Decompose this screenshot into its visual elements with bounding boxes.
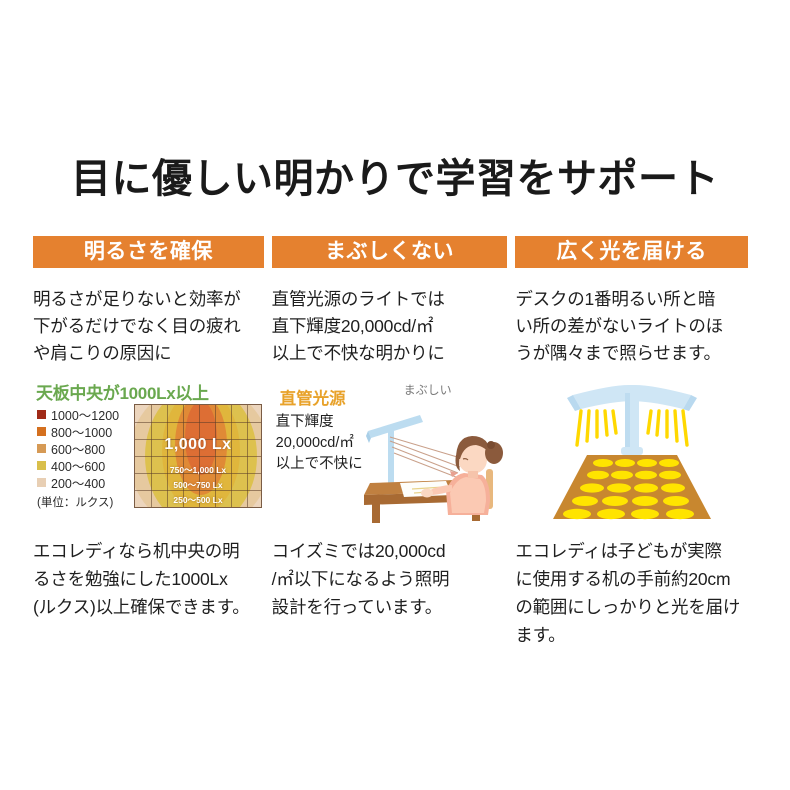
column-intro-glare: 直管光源のライトでは 直下輝度20,000cd/㎡ 以上で不快な明かりに: [272, 286, 508, 367]
legend-item: 400〜600: [37, 457, 133, 474]
outro-line: るさを勉強にした1000Lx: [33, 565, 264, 593]
wide-light-figure: [515, 379, 748, 529]
column-header-brightness: 明るさを確保: [33, 236, 264, 268]
legend-label: 200〜400: [51, 473, 105, 492]
outro-line: コイズミでは20,000cd: [272, 537, 508, 565]
intro-line: デスクの1番明るい所と暗: [515, 286, 748, 313]
feature-column-glare: まぶしくない 直管光源のライトでは 直下輝度20,000cd/㎡ 以上で不快な明…: [272, 236, 508, 649]
glare-side-note: 直下輝度 20,000cd/㎡ 以上で不快に: [276, 412, 363, 475]
legend-swatch-400-600: [37, 461, 46, 470]
intro-line: 直管光源のライトでは: [272, 286, 508, 313]
glare-callout-label: まぶしい: [404, 381, 452, 398]
intro-line: うが隅々まで照らせます。: [515, 340, 748, 367]
outro-line: (ルクス)以上確保できます。: [33, 593, 264, 621]
heatmap-gridlines: [135, 405, 261, 507]
heatmap-center-label: 1,000 Lx: [135, 436, 261, 454]
glare-figure-title: 直管光源: [280, 385, 346, 409]
legend-item: 800〜1000: [37, 423, 133, 440]
column-intro-wide-light: デスクの1番明るい所と暗 い所の差がないライトのほ うが隅々まで照らせます。: [515, 286, 748, 367]
intro-line: 明るさが足りないと効率が: [33, 286, 264, 313]
heatmap-band2-label: 500〜750 Lx: [135, 479, 261, 491]
intro-line: い所の差がないライトのほ: [515, 313, 748, 340]
side-line: 直下輝度: [276, 412, 363, 433]
glare-illustration: [360, 397, 508, 525]
intro-line: 以上で不快な明かりに: [272, 340, 508, 367]
outro-line: 設計を行っています。: [272, 593, 508, 621]
outro-line: エコレディは子どもが実際: [515, 537, 748, 565]
intro-line: 下がるだけでなく目の疲れ: [33, 313, 264, 340]
outro-line: に使用する机の手前約20cm: [515, 565, 748, 593]
outro-line: ます。: [515, 621, 748, 649]
intro-line: 直下輝度20,000cd/㎡: [272, 313, 508, 340]
feature-columns: 明るさを確保 明るさが足りないと効率が 下がるだけでなく目の疲れ や肩こりの原因…: [33, 236, 748, 649]
side-line: 以上で不快に: [276, 454, 363, 475]
infographic-page: 目に優しい明かりで学習をサポート 明るさを確保 明るさが足りないと効率が 下がる…: [0, 0, 790, 790]
heatmap-figure: 天板中央が1000Lx以上 1000〜1200 800〜1000 600〜800: [33, 379, 264, 529]
heatmap-band1-label: 750〜1,000 Lx: [135, 464, 261, 476]
column-intro-brightness: 明るさが足りないと効率が 下がるだけでなく目の疲れ や肩こりの原因に: [33, 286, 264, 367]
page-title: 目に優しい明かりで学習をサポート: [0, 146, 790, 204]
legend-swatch-1000-1200: [37, 410, 46, 419]
wide-light-illustration: [515, 379, 748, 527]
column-header-wide-light: 広く光を届ける: [515, 236, 748, 268]
legend-item: 200〜400: [37, 474, 133, 491]
legend-item: 1000〜1200: [37, 406, 133, 423]
outro-line: の範囲にしっかりと光を届け: [515, 593, 748, 621]
legend-item: 600〜800: [37, 440, 133, 457]
legend-unit-note: (単位：ルクス): [37, 494, 133, 510]
outro-line: エコレディなら机中央の明: [33, 537, 264, 565]
heatmap-title: 天板中央が1000Lx以上: [36, 379, 209, 404]
feature-column-brightness: 明るさを確保 明るさが足りないと効率が 下がるだけでなく目の疲れ や肩こりの原因…: [33, 236, 264, 649]
intro-line: や肩こりの原因に: [33, 340, 264, 367]
column-outro-wide-light: エコレディは子どもが実際 に使用する机の手前約20cm の範囲にしっかりと光を届…: [515, 537, 748, 649]
legend-swatch-200-400: [37, 478, 46, 487]
side-line: 20,000cd/㎡: [276, 433, 363, 454]
legend-swatch-600-800: [37, 444, 46, 453]
legend-swatch-800-1000: [37, 427, 46, 436]
feature-column-wide-light: 広く光を届ける デスクの1番明るい所と暗 い所の差がないライトのほ うが隅々まで…: [515, 236, 748, 649]
column-header-glare: まぶしくない: [272, 236, 508, 268]
heatmap-grid: 1,000 Lx 750〜1,000 Lx 500〜750 Lx 250〜500…: [134, 404, 262, 508]
column-outro-brightness: エコレディなら机中央の明 るさを勉強にした1000Lx (ルクス)以上確保できま…: [33, 537, 264, 621]
outro-line: /㎡以下になるよう照明: [272, 565, 508, 593]
heatmap-legend: 1000〜1200 800〜1000 600〜800 400〜600: [37, 406, 133, 510]
column-outro-glare: コイズミでは20,000cd /㎡以下になるよう照明 設計を行っています。: [272, 537, 508, 621]
heatmap-band3-label: 250〜500 Lx: [135, 494, 261, 506]
glare-figure: 直管光源 直下輝度 20,000cd/㎡ 以上で不快に まぶしい: [272, 379, 508, 529]
